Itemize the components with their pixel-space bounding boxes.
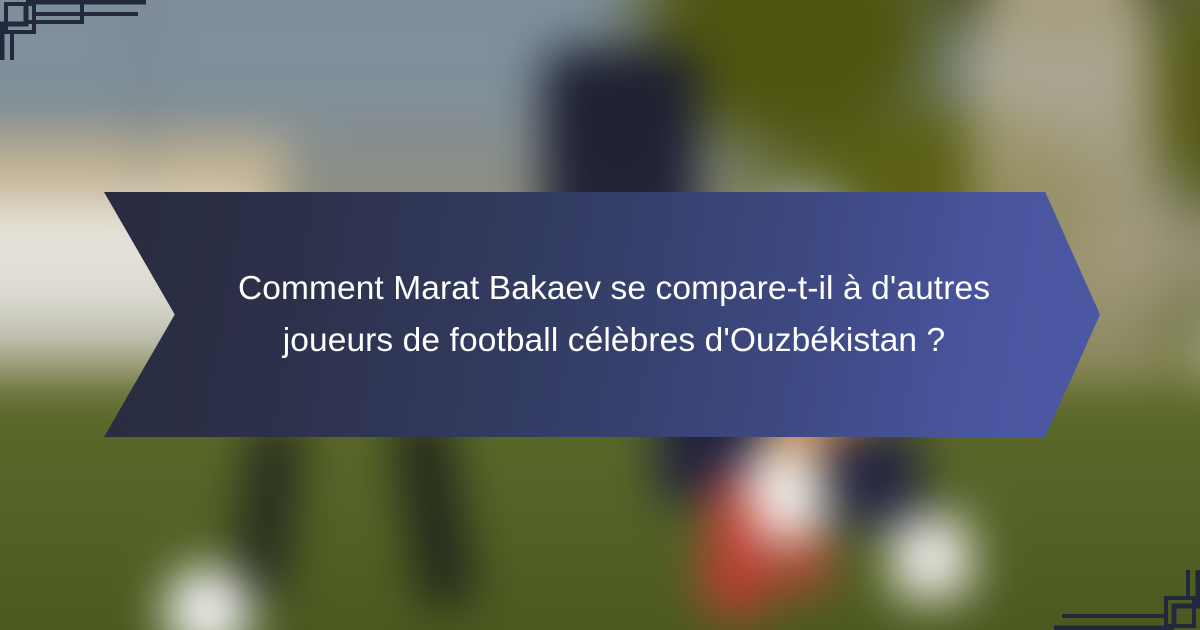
- player-cleat-right: [888, 514, 973, 603]
- corner-ornament-top-left: [0, 0, 150, 60]
- corner-ornament-bottom-right: [1050, 570, 1200, 630]
- page-title: Comment Marat Bakaev se compare-t-il à d…: [212, 263, 992, 367]
- title-banner: Comment Marat Bakaev se compare-t-il à d…: [104, 192, 1100, 437]
- corner-bracket-icon: [0, 0, 150, 60]
- share-card-canvas: Comment Marat Bakaev se compare-t-il à d…: [0, 0, 1200, 630]
- player-shorts-second: [822, 422, 927, 531]
- corner-bracket-icon: [1050, 570, 1200, 630]
